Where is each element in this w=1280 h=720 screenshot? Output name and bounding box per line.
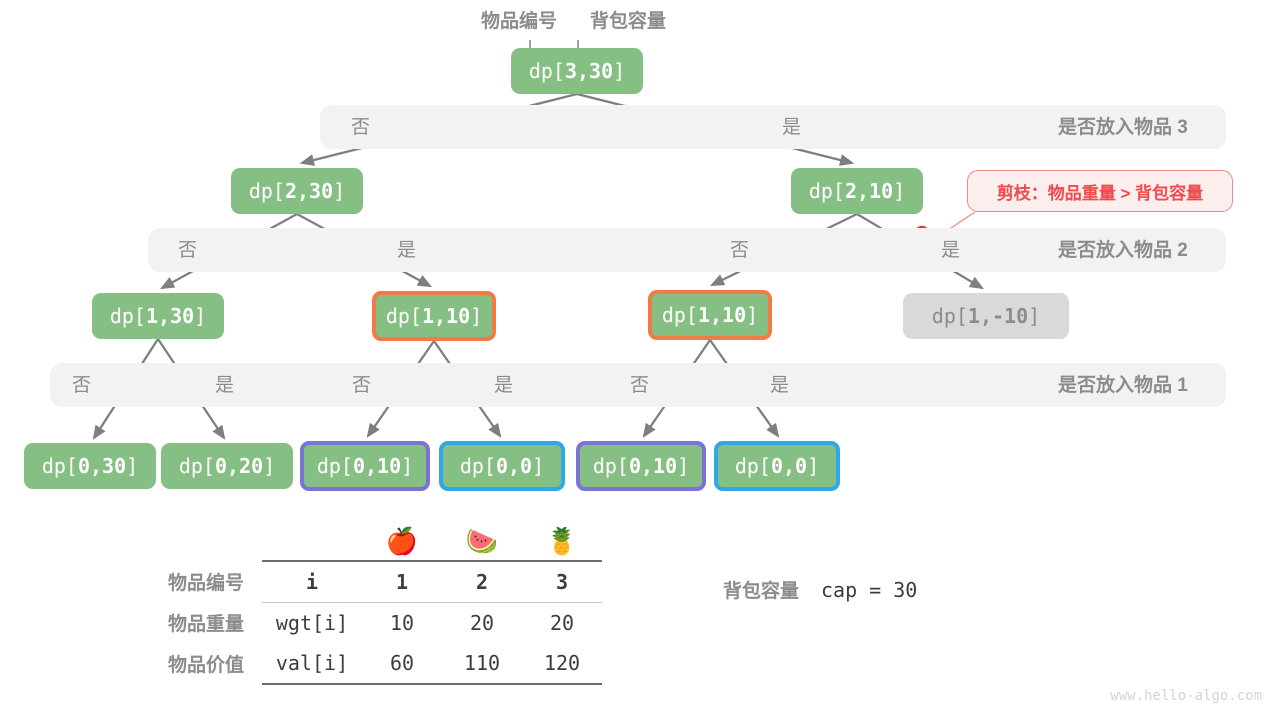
tree-node-n10[interactable]: dp[0,0] [439,441,565,491]
tree-node-n0[interactable]: dp[3,30] [511,48,643,94]
branch-label-1-1: 否 [351,118,370,137]
fruit-icon-2: 🍉 [442,520,522,561]
header-bag-capacity: 背包容量 [590,12,666,31]
cell-3-3: 120 [522,643,602,684]
cell-1-3: 3 [522,561,602,603]
row-head-1: 物品编号 [168,561,262,603]
tree-node-n1[interactable]: dp[2,30] [231,168,363,214]
table-row: 物品价值val[i]60110120 [168,643,602,684]
branch-label-2-1: 否 [178,241,197,260]
tree-node-n5[interactable]: dp[1,10] [648,290,772,340]
capacity-label: 背包容量 [723,581,799,602]
cell-2-2: 20 [442,603,522,644]
tree-node-n6[interactable]: dp[1,-10] [903,293,1069,339]
cell-1-2: 2 [442,561,522,603]
tree-node-n3[interactable]: dp[1,30] [92,293,224,339]
fruit-icon-3: 🍍 [522,520,602,561]
capacity-note: 背包容量cap = 30 [723,580,917,601]
cell-1-1: 1 [362,561,442,603]
row-key-1: i [262,561,362,603]
cell-3-2: 110 [442,643,522,684]
watermark: www.hello-algo.com [1110,688,1262,704]
branch-label-2-2: 是 [397,241,416,260]
table-row: 物品重量wgt[i]102020 [168,603,602,644]
header-item-index: 物品编号 [481,12,557,31]
branch-label-3-5: 否 [630,376,649,395]
row-key-2: wgt[i] [262,603,362,644]
branch-label-3-2: 是 [215,376,234,395]
table-emoji-row: 🍎🍉🍍 [168,520,602,561]
tree-node-n11[interactable]: dp[0,10] [576,441,706,491]
table-bottom-rule [168,684,602,687]
branch-label-3-1: 否 [72,376,91,395]
tree-node-n4[interactable]: dp[1,10] [372,291,496,341]
tree-node-n2[interactable]: dp[2,10] [791,168,923,214]
row-head-2: 物品重量 [168,603,262,644]
tree-node-n8[interactable]: dp[0,20] [161,443,293,489]
branch-label-2-4: 是 [941,241,960,260]
branch-label-3-6: 是 [770,376,789,395]
branch-label-1-2: 是 [782,118,801,137]
branch-label-3-3: 否 [352,376,371,395]
tree-node-n7[interactable]: dp[0,30] [24,443,156,489]
tree-node-n12[interactable]: dp[0,0] [714,441,840,491]
band-title-1: 是否放入物品 3 [1058,118,1188,137]
row-head-3: 物品价值 [168,643,262,684]
branch-label-2-3: 否 [730,241,749,260]
cell-2-1: 10 [362,603,442,644]
capacity-value: cap = 30 [821,578,917,602]
row-key-3: val[i] [262,643,362,684]
band-title-3: 是否放入物品 1 [1058,376,1188,395]
items-table: 🍎🍉🍍物品编号i123物品重量wgt[i]102020物品价值val[i]601… [168,520,602,687]
branch-label-3-4: 是 [494,376,513,395]
band-title-2: 是否放入物品 2 [1058,241,1188,260]
cell-3-1: 60 [362,643,442,684]
fruit-icon-1: 🍎 [362,520,442,561]
tree-node-n9[interactable]: dp[0,10] [300,441,430,491]
cell-2-3: 20 [522,603,602,644]
diagram-canvas: 物品编号 背包容量 否是是否放入物品 3否是否是是否放入物品 2否是否是否是是否… [0,0,1280,720]
prune-annotation: 剪枝：物品重量 > 背包容量 [967,170,1233,212]
table-row: 物品编号i123 [168,561,602,603]
